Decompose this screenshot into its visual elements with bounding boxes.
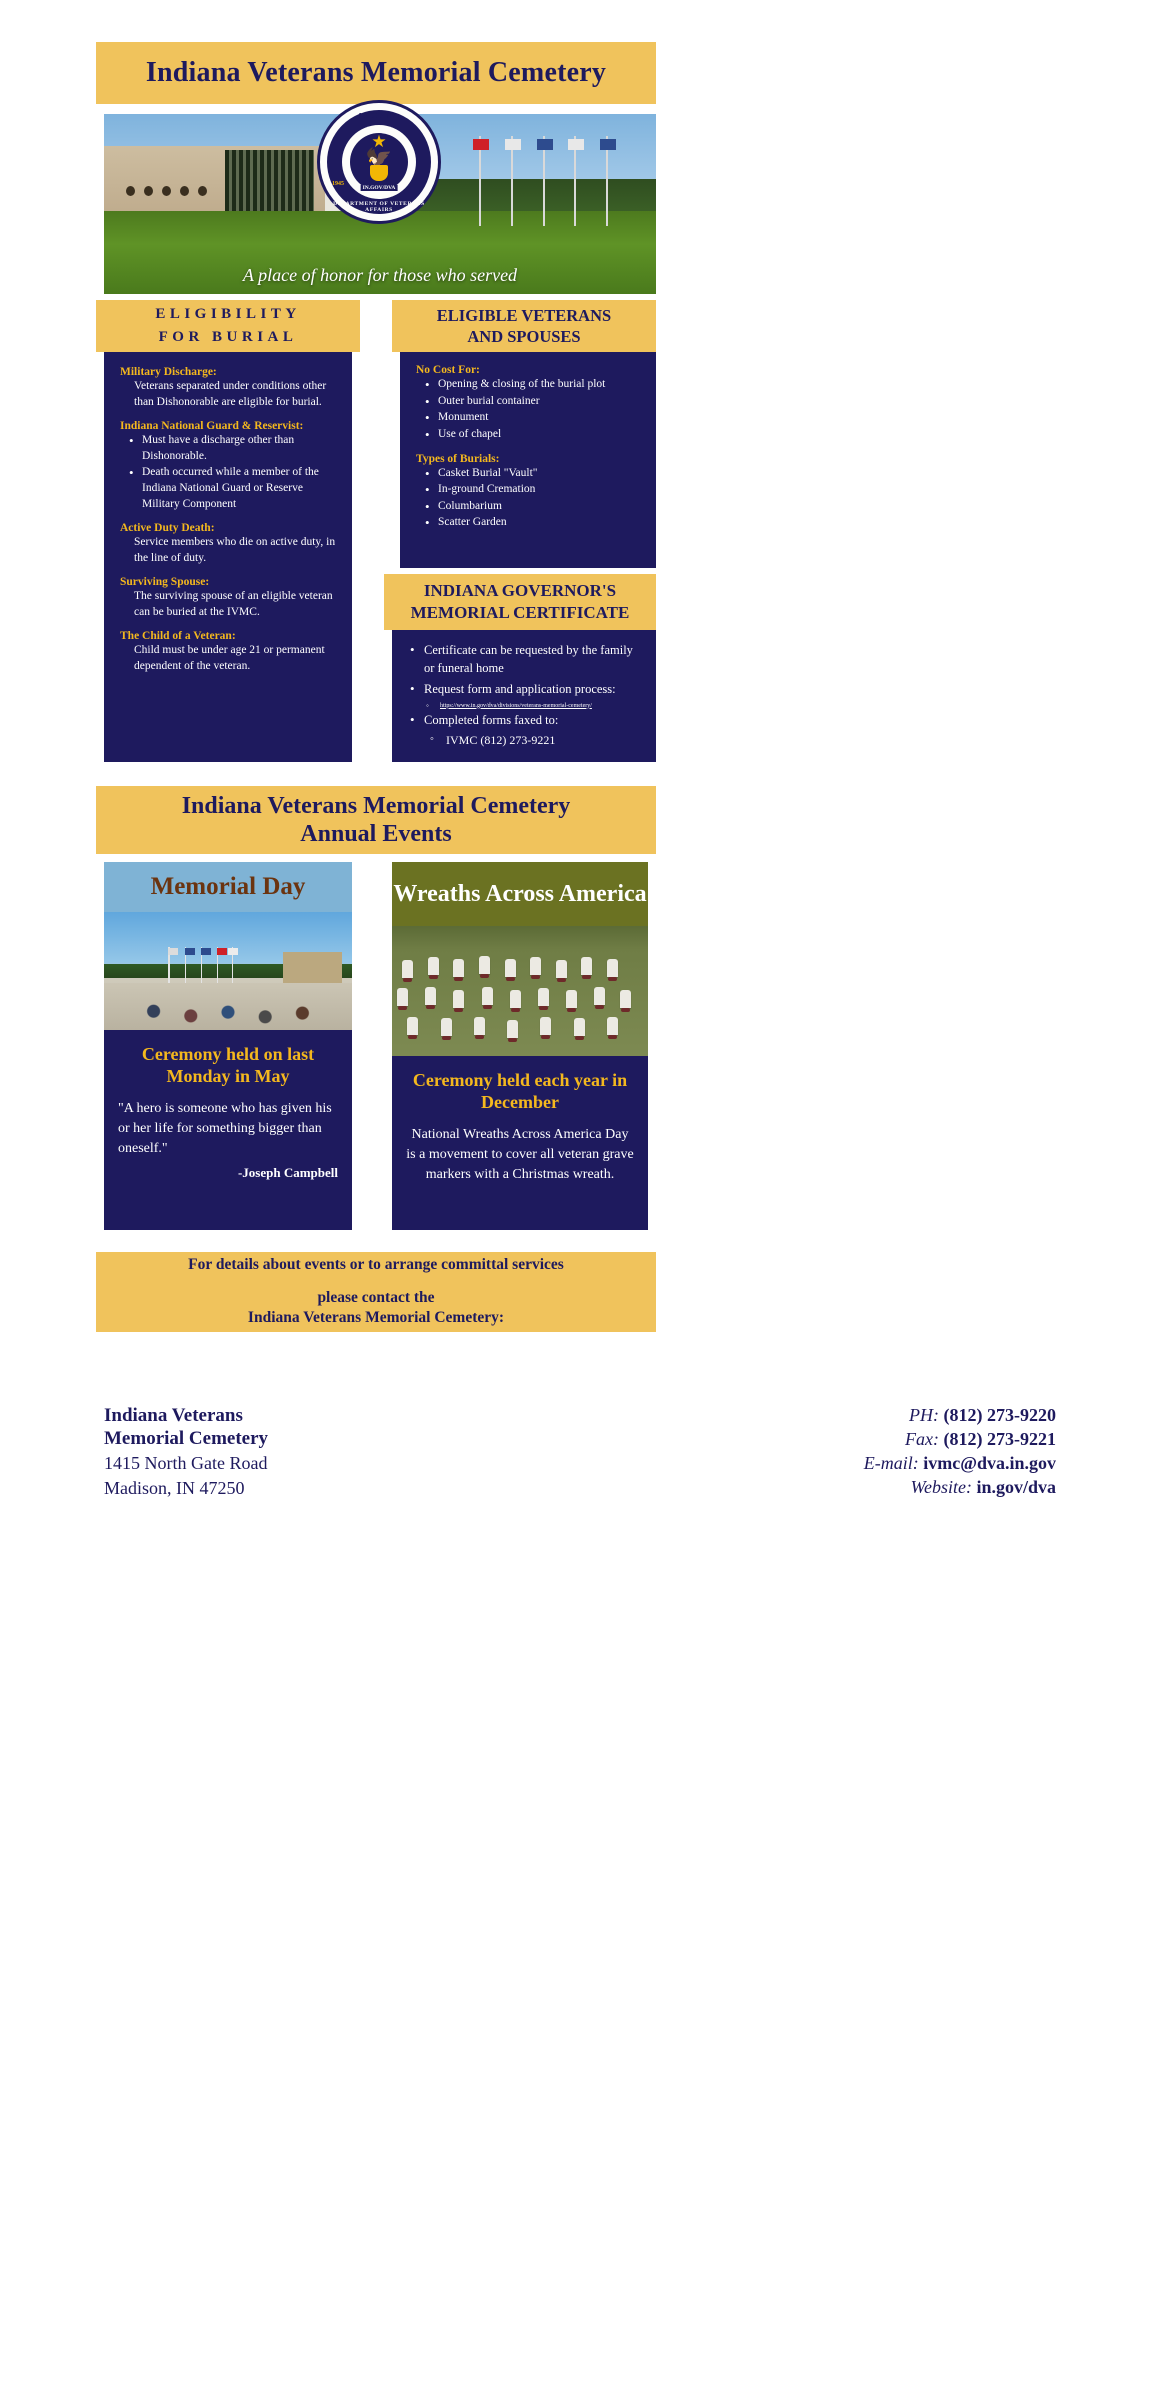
contact-call-to-action-banner: For details about events or to arrange c… — [96, 1252, 656, 1332]
certificate-list: Certificate can be requested by the fami… — [404, 642, 646, 699]
footer-website-label: Website: — [911, 1477, 972, 1497]
certificate-header-line2: MEMORIAL CERTIFICATE — [411, 602, 630, 624]
memorial-day-ceremony-photo — [104, 912, 352, 1030]
footer-fax-value: (812) 273-9221 — [944, 1429, 1056, 1449]
list-item: Certificate can be requested by the fami… — [404, 642, 646, 677]
list-item: Casket Burial "Vault" — [416, 466, 644, 482]
section-text-active-duty-death: Service members who die on active duty, … — [120, 535, 338, 566]
list-item: Use of chapel — [416, 427, 644, 443]
hero-building-medallions — [126, 186, 207, 196]
event-card-subtitle: Ceremony held on last Monday in May — [118, 1044, 338, 1087]
footer-phone-row: PH: (812) 273-9220 — [736, 1404, 1056, 1428]
footer-email-value[interactable]: ivmc@dva.in.gov — [923, 1453, 1056, 1473]
list-item: Death occurred while a member of the Ind… — [120, 465, 338, 512]
hero-building-windows — [225, 150, 313, 218]
contact-bar-line2b: Indiana Veterans Memorial Cemetery: — [248, 1308, 504, 1328]
annual-events-title-line1: Indiana Veterans Memorial Cemetery — [182, 792, 571, 820]
event-card-subtitle: Ceremony held each year in December — [406, 1070, 634, 1113]
certificate-list-faxed: Completed forms faxed to: — [404, 712, 646, 730]
seal-year: 1945 — [332, 181, 344, 187]
footer-fax-label: Fax: — [905, 1429, 939, 1449]
infographic-page: Indiana Veterans Memorial Cemetery A pla… — [0, 0, 1152, 2400]
section-title-no-cost: No Cost For: — [416, 364, 644, 376]
seal-bottom-text: DEPARTMENT OF VETERANS AFFAIRS — [320, 201, 438, 213]
hero-caption: A place of honor for those who served — [104, 265, 656, 286]
hero-flagpoles — [479, 136, 623, 226]
list-item: Monument — [416, 410, 644, 426]
headstone-rows — [392, 926, 648, 1056]
eligibility-header: ELIGIBILITY FOR BURIAL — [96, 300, 360, 352]
section-title-types-of-burials: Types of Burials: — [416, 453, 644, 465]
seal-gov-url: IN.GOV/DVA — [361, 185, 398, 191]
contact-bar-line2a: please contact the — [248, 1288, 504, 1308]
certificate-fax-number: IVMC (812) 273-9221 — [404, 733, 646, 749]
event-card-heading: Wreaths Across America — [392, 862, 648, 926]
section-title-active-duty-death: Active Duty Death: — [120, 522, 338, 534]
eligible-veterans-header-line2: AND SPOUSES — [437, 326, 611, 347]
footer-fax-row: Fax: (812) 273-9221 — [736, 1428, 1056, 1452]
section-title-surviving-spouse: Surviving Spouse: — [120, 576, 338, 588]
event-card-blurb: National Wreaths Across America Day is a… — [406, 1125, 634, 1185]
indiana-dva-seal-icon: INDIANA ★ 🦅 1945 IN.GOV/DVA DEPARTMENT O… — [317, 100, 441, 224]
footer-email-label: E-mail: — [864, 1453, 919, 1473]
footer-phone-label: PH: — [909, 1405, 939, 1425]
eligibility-panel: Military Discharge: Veterans separated u… — [104, 352, 352, 762]
list-item: Columbarium — [416, 499, 644, 515]
footer-address-block: Indiana Veterans Memorial Cemetery 1415 … — [104, 1404, 374, 1500]
list-item: Opening & closing of the burial plot — [416, 377, 644, 393]
event-card-quote: "A hero is someone who has given his or … — [118, 1099, 338, 1159]
wreaths-across-america-photo — [392, 926, 648, 1056]
section-list-no-cost: Opening & closing of the burial plot Out… — [416, 377, 644, 443]
list-item: In-ground Cremation — [416, 482, 644, 498]
event-card-memorial-day: Memorial Day Ceremony held on last Monda… — [104, 862, 352, 1230]
section-text-surviving-spouse: The surviving spouse of an eligible vete… — [120, 589, 338, 620]
section-list-types-of-burials: Casket Burial "Vault" In-ground Crematio… — [416, 466, 644, 532]
eligibility-header-line2: FOR BURIAL — [155, 326, 300, 349]
eligible-veterans-header-line1: ELIGIBLE VETERANS — [437, 305, 611, 326]
seal-top-text: INDIANA — [320, 112, 438, 120]
certificate-panel: Certificate can be requested by the fami… — [392, 630, 656, 762]
eligible-veterans-header: ELIGIBLE VETERANS AND SPOUSES — [392, 300, 656, 352]
section-text-child-of-veteran: Child must be under age 21 or permanent … — [120, 643, 338, 674]
annual-events-banner: Indiana Veterans Memorial Cemetery Annua… — [96, 786, 656, 854]
section-title-child-of-veteran: The Child of a Veteran: — [120, 630, 338, 642]
footer-address-line2: Madison, IN 47250 — [104, 1477, 374, 1500]
footer-website-value[interactable]: in.gov/dva — [976, 1477, 1056, 1497]
list-item: Scatter Garden — [416, 515, 644, 531]
footer-contact-block: PH: (812) 273-9220 Fax: (812) 273-9221 E… — [736, 1404, 1056, 1500]
eligible-veterans-panel: No Cost For: Opening & closing of the bu… — [400, 352, 656, 568]
list-item: Must have a discharge other than Dishono… — [120, 433, 338, 464]
page-title: Indiana Veterans Memorial Cemetery — [146, 57, 606, 89]
footer-name-line1: Indiana Veterans — [104, 1404, 374, 1427]
section-title-military-discharge: Military Discharge: — [120, 366, 338, 378]
page-title-banner: Indiana Veterans Memorial Cemetery — [96, 42, 656, 104]
footer-address-line1: 1415 North Gate Road — [104, 1452, 374, 1475]
event-card-wreaths-across-america: Wreaths Across America Ceremony held ea — [392, 862, 648, 1230]
section-text-military-discharge: Veterans separated under conditions othe… — [120, 379, 338, 410]
event-card-body: Ceremony held each year in December Nati… — [392, 1056, 648, 1230]
footer-phone-value: (812) 273-9220 — [944, 1405, 1056, 1425]
footer-email-row: E-mail: ivmc@dva.in.gov — [736, 1452, 1056, 1476]
contact-bar-line1: For details about events or to arrange c… — [188, 1256, 564, 1274]
certificate-header-line1: INDIANA GOVERNOR'S — [411, 580, 630, 602]
footer: Indiana Veterans Memorial Cemetery 1415 … — [0, 1404, 1152, 1524]
section-title-national-guard: Indiana National Guard & Reservist: — [120, 420, 338, 432]
certificate-url-link[interactable]: https://www.in.gov/dva/divisions/veteran… — [404, 703, 646, 710]
event-card-attribution: -Joseph Campbell — [118, 1165, 338, 1181]
footer-name-line2: Memorial Cemetery — [104, 1427, 374, 1450]
list-item: Outer burial container — [416, 394, 644, 410]
annual-events-title-line2: Annual Events — [300, 820, 451, 848]
footer-website-row: Website: in.gov/dva — [736, 1476, 1056, 1500]
seal-shield-icon — [370, 165, 388, 181]
event-card-body: Ceremony held on last Monday in May "A h… — [104, 1030, 352, 1230]
certificate-header: INDIANA GOVERNOR'S MEMORIAL CERTIFICATE — [384, 574, 656, 630]
eligibility-header-line1: ELIGIBILITY — [155, 303, 300, 326]
section-list-national-guard: Must have a discharge other than Dishono… — [120, 433, 338, 512]
list-item: Request form and application process: — [404, 681, 646, 699]
event-card-heading: Memorial Day — [104, 862, 352, 912]
list-item: Completed forms faxed to: — [404, 712, 646, 730]
